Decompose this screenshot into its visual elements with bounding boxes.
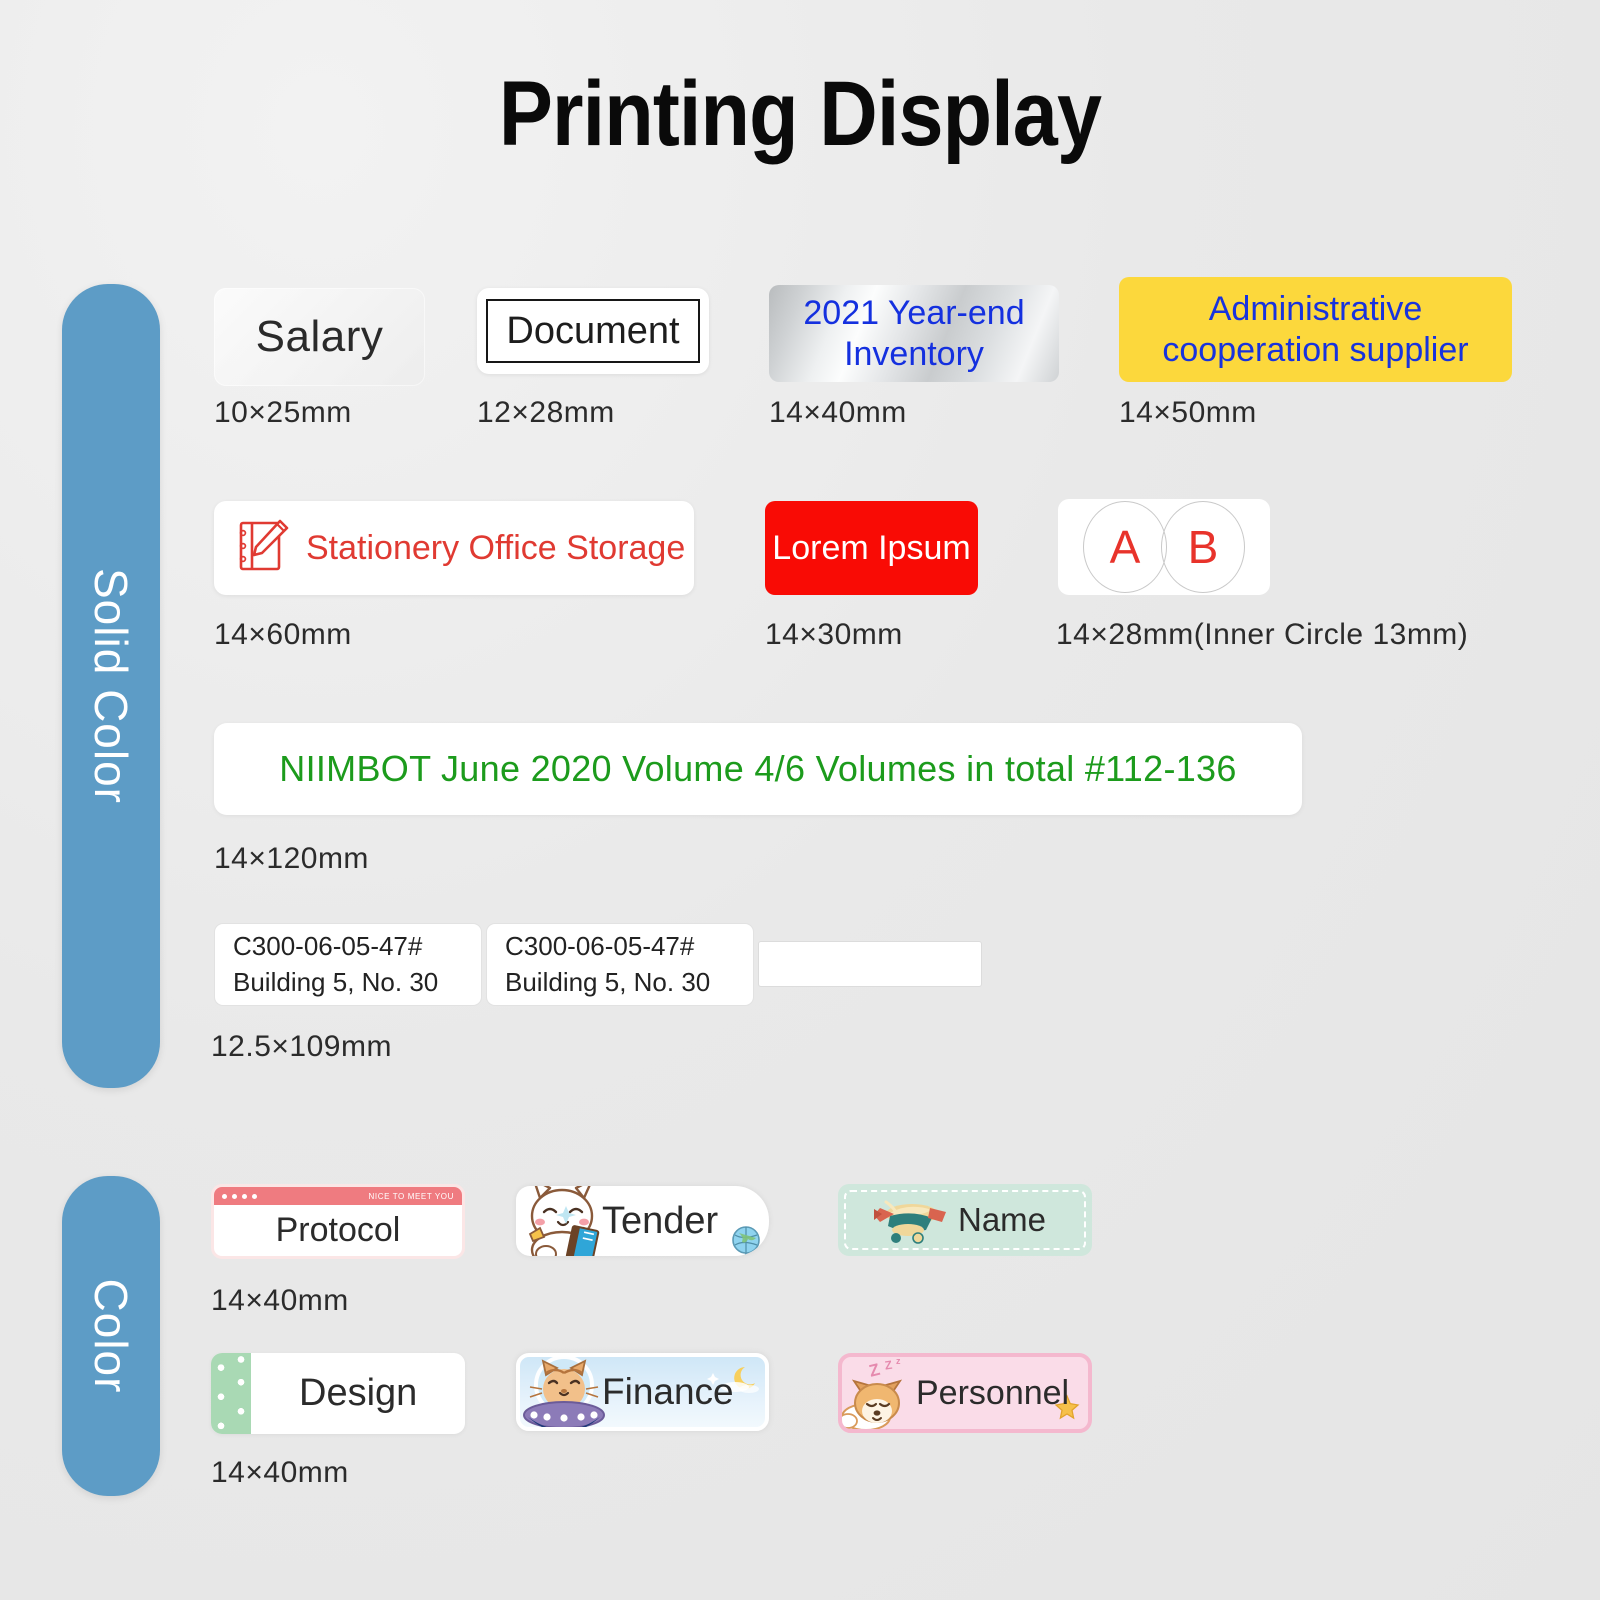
label-sample-salary[interactable]: Salary xyxy=(214,288,425,386)
svg-text:Z: Z xyxy=(884,1358,893,1373)
dimension-caption-stationery: 14×60mm xyxy=(214,618,352,652)
section-tab-color-label: Color xyxy=(84,1279,138,1394)
dimension-caption-salary: 10×25mm xyxy=(214,396,352,430)
label-sample-lorem-ipsum-text: Lorem Ipsum xyxy=(772,529,970,568)
dimension-caption-ab-circles: 14×28mm(Inner Circle 13mm) xyxy=(1056,618,1468,652)
printing-display-page: Printing Display Solid Color Color Salar… xyxy=(0,0,1600,1600)
label-sample-inventory-line2: Inventory xyxy=(844,334,984,374)
label-sample-design-text: Design xyxy=(299,1372,417,1415)
page-title: Printing Display xyxy=(96,62,1504,167)
label-sample-address-1-line1: C300-06-05-47# xyxy=(233,929,481,964)
label-sample-circle-b: B xyxy=(1161,501,1245,593)
label-sample-address-2[interactable]: C300-06-05-47# Building 5, No. 30 xyxy=(486,923,754,1006)
globe-icon xyxy=(729,1223,763,1256)
label-sample-circle-a: A xyxy=(1083,501,1167,593)
dimension-caption-inventory: 14×40mm xyxy=(769,396,907,430)
dimension-caption-administrative: 14×50mm xyxy=(1119,396,1257,430)
white-cat-with-book-icon xyxy=(520,1186,612,1256)
label-sample-protocol-tag: NICE TO MEET YOU xyxy=(369,1192,454,1201)
label-sample-inventory[interactable]: 2021 Year-end Inventory xyxy=(769,285,1059,382)
label-sample-address-2-line2: Building 5, No. 30 xyxy=(505,965,753,1000)
section-tab-color[interactable]: Color xyxy=(62,1176,160,1496)
label-sample-tender-text: Tender xyxy=(602,1200,718,1243)
section-tab-solid-color[interactable]: Solid Color xyxy=(62,284,160,1088)
label-sample-name[interactable]: Name xyxy=(838,1184,1092,1256)
section-tab-solid-color-label: Solid Color xyxy=(84,568,138,804)
label-sample-administrative-line2: cooperation supplier xyxy=(1162,330,1468,371)
label-sample-protocol-text: Protocol xyxy=(276,1211,401,1250)
browser-window-bar: NICE TO MEET YOU xyxy=(214,1187,462,1205)
label-sample-niimbot[interactable]: NIIMBOT June 2020 Volume 4/6 Volumes in … xyxy=(214,723,1302,815)
dimension-caption-niimbot: 14×120mm xyxy=(214,842,369,876)
label-sample-administrative-line1: Administrative xyxy=(1209,289,1423,330)
label-sample-document-text: Document xyxy=(506,310,679,353)
label-sample-salary-text: Salary xyxy=(256,312,384,362)
label-sample-stationery[interactable]: Stationery Office Storage xyxy=(214,501,694,595)
dimension-caption-document: 12×28mm xyxy=(477,396,615,430)
window-dots-icon xyxy=(222,1194,257,1199)
dimension-caption-color-row2: 14×40mm xyxy=(211,1456,349,1490)
label-sample-address-2-line1: C300-06-05-47# xyxy=(505,929,753,964)
label-sample-administrative[interactable]: Administrative cooperation supplier xyxy=(1119,277,1512,382)
dimension-caption-address: 12.5×109mm xyxy=(211,1030,392,1064)
label-sample-personnel[interactable]: Z Z z Personnel xyxy=(838,1353,1092,1433)
label-sample-address-1[interactable]: C300-06-05-47# Building 5, No. 30 xyxy=(214,923,482,1006)
green-polka-dot-block xyxy=(211,1353,251,1434)
label-sample-personnel-text: Personnel xyxy=(916,1374,1069,1413)
label-sample-design[interactable]: Design xyxy=(211,1353,465,1434)
svg-text:Z: Z xyxy=(868,1360,882,1381)
label-sample-niimbot-text: NIIMBOT June 2020 Volume 4/6 Volumes in … xyxy=(279,748,1236,790)
label-sample-protocol[interactable]: NICE TO MEET YOU Protocol xyxy=(211,1184,465,1259)
label-sample-finance[interactable]: Finance xyxy=(516,1353,769,1431)
label-sample-name-text: Name xyxy=(958,1201,1046,1239)
dimension-caption-color-row1: 14×40mm xyxy=(211,1284,349,1318)
astronaut-cat-ufo-icon xyxy=(516,1353,612,1431)
label-sample-lorem-ipsum[interactable]: Lorem Ipsum xyxy=(765,501,978,595)
label-sample-address-blank-tail xyxy=(758,941,982,987)
svg-text:z: z xyxy=(896,1356,901,1366)
label-sample-protocol-body: Protocol xyxy=(214,1205,462,1256)
dimension-caption-lorem-ipsum: 14×30mm xyxy=(765,618,903,652)
label-sample-stationery-text: Stationery Office Storage xyxy=(306,529,685,568)
label-sample-address-1-line2: Building 5, No. 30 xyxy=(233,965,481,1000)
sleeping-shiba-dog-icon xyxy=(840,1371,926,1433)
label-sample-finance-text: Finance xyxy=(602,1371,734,1413)
label-sample-document[interactable]: Document xyxy=(477,288,709,374)
label-sample-document-frame: Document xyxy=(486,299,700,363)
label-sample-inventory-line1: 2021 Year-end xyxy=(803,293,1024,333)
notebook-pencil-icon xyxy=(236,518,290,579)
label-sample-ab-circles[interactable]: A B xyxy=(1058,499,1270,595)
label-sample-tender[interactable]: Tender xyxy=(516,1186,769,1256)
